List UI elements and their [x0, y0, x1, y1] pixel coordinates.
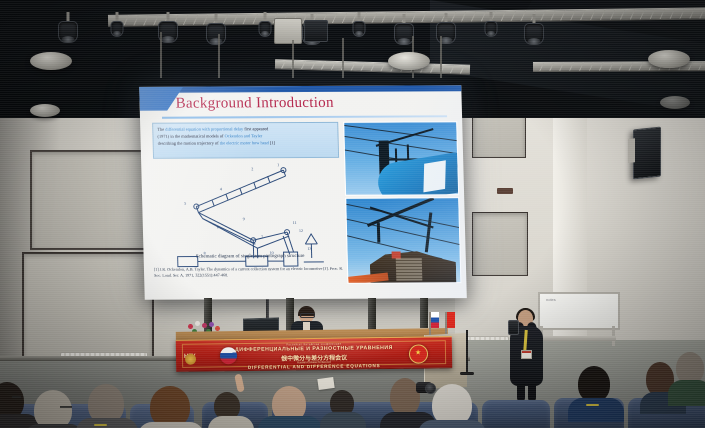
ceiling-speaker: [304, 20, 328, 42]
ceiling-dome-light: [660, 96, 690, 109]
light-hanger: [160, 32, 162, 78]
wall-sign: [497, 188, 513, 194]
body-line1-highlight: differential equation with proportional …: [165, 126, 243, 131]
svg-text:4: 4: [220, 186, 222, 191]
presenter-phone[interactable]: [508, 320, 519, 335]
light-hanger: [342, 38, 344, 78]
svg-text:7: 7: [261, 234, 263, 239]
svg-text:13: 13: [307, 246, 311, 251]
svg-text:12: 12: [299, 228, 303, 233]
body-line1-pre: The: [157, 127, 165, 132]
light-hanger: [440, 36, 442, 78]
university-emblem: НГУ: [184, 345, 204, 367]
microphone-stand: [466, 330, 468, 374]
slide-text-box: The differential equation with proportio…: [152, 122, 339, 159]
svg-text:6: 6: [217, 224, 219, 229]
russia-flag-icon: [220, 347, 237, 364]
conference-banner: Российско-Китайская конференция ДИФФЕРЕН…: [176, 336, 452, 372]
ceiling-dome-light: [648, 50, 690, 68]
slide-accent-bar: [139, 85, 461, 93]
svg-text:11: 11: [293, 220, 297, 225]
stage-pillar: [368, 298, 376, 332]
body-line2-pre: (1971) in the mathematical models of: [157, 133, 224, 138]
ceiling-dome-light: [30, 52, 72, 70]
projection-screen: Background Introduction The differential…: [139, 85, 467, 300]
slide-title-rule: [162, 115, 447, 118]
photo-pantograph-blue-train: [343, 121, 459, 196]
light-hanger: [218, 34, 220, 78]
body-line3-pre: describing the motion trajectory of: [158, 140, 220, 145]
ceiling-dome-light: [30, 104, 60, 117]
body-line3-highlight: the electric motor bow head: [220, 140, 269, 145]
svg-text:5: 5: [184, 201, 186, 206]
figure-caption: Schematic diagram of single arm pantogra…: [158, 254, 343, 260]
svg-text:2: 2: [251, 166, 253, 171]
whiteboard-scribble: notes: [546, 297, 556, 302]
photo-pantograph-old-locomotive: [345, 197, 461, 284]
svg-text:9: 9: [243, 216, 245, 221]
body-line2-highlight: Ockendon and Tayler: [224, 133, 262, 138]
wall-panel: [472, 212, 528, 276]
slide-title: Background Introduction: [175, 95, 334, 113]
body-line3-post: [1]: [269, 140, 275, 145]
ceiling-dome-light: [388, 52, 430, 70]
svg-text:1: 1: [277, 162, 279, 167]
wall-panel: [22, 252, 154, 364]
body-line1-post: first appeared: [243, 126, 268, 131]
conference-hall-screenshot: Background Introduction The differential…: [0, 0, 705, 428]
russia-desk-flag: [430, 312, 439, 328]
wall-panel: [30, 150, 152, 250]
camera-icon: [416, 382, 432, 393]
wall-speaker-icon: [633, 127, 661, 180]
light-hanger: [292, 40, 294, 78]
presenter-badge: [521, 350, 532, 359]
seat: [482, 400, 550, 428]
ceiling-speaker: [274, 18, 302, 44]
china-desk-flag: [446, 312, 455, 328]
stage-pillar: [420, 298, 428, 328]
slide-reference: [1] J.R. Ockendon, A.B. Tayler. The dyna…: [154, 266, 349, 279]
handout-paper: [317, 377, 334, 390]
